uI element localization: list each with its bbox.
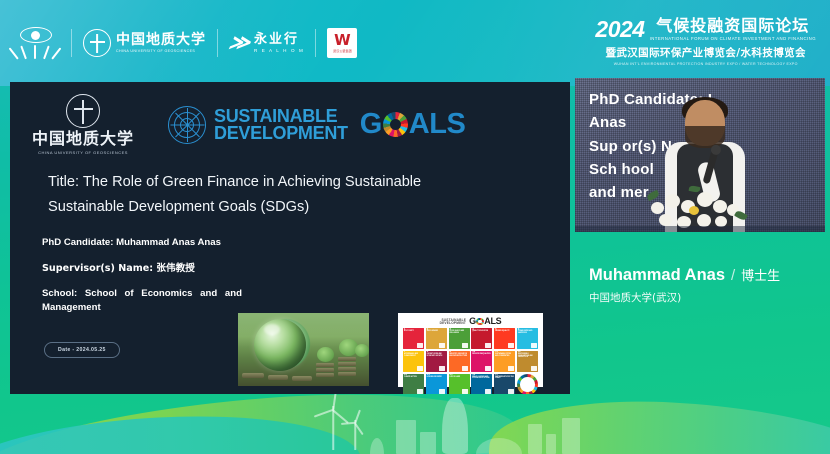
city-skyline-decoration — [300, 386, 600, 454]
sdg-goal-label: REDUCED INEQUALITIES — [472, 354, 491, 356]
sdg-logo: SUSTAINABLE DEVELOPMENT G ALS — [168, 106, 465, 144]
sdg-goal-pictogram-icon — [485, 366, 491, 371]
conference-subtitle-en: WUHAN INT'L ENVIRONMENTAL PROTECTION IND… — [595, 62, 816, 66]
sdg-goal-tile-12: 12RESPONSIBLE CONSUMPTION AND PRODUCTION — [517, 351, 538, 372]
building-icon — [396, 420, 416, 454]
cug-logo-cn: 中国地质大学 — [116, 33, 206, 47]
sdg-goal-label: NO POVERTY — [404, 331, 423, 333]
partner-w-logo: W 武汉公装集团 — [327, 28, 357, 58]
sdg-goal-tile-11: 11SUSTAINABLE CITIES AND COMMUNITIES — [494, 351, 515, 372]
sdg-color-wheel-icon — [476, 318, 484, 326]
sdg-goal-pictogram-icon — [417, 389, 423, 394]
green-finance-image — [238, 313, 369, 386]
sdg-goal-pictogram-icon — [439, 366, 445, 371]
speaker-name-row: Muhammad Anas / 博士生 — [589, 266, 811, 285]
ministry-emblem-logo — [12, 26, 60, 60]
wind-turbine-icon — [344, 420, 366, 450]
speaker-name: Muhammad Anas — [589, 266, 725, 284]
conference-title-block: 2024 气候投融资国际论坛 INTERNATIONAL FORUM ON CL… — [595, 18, 816, 66]
sdg-goal-tile-2: 2ZERO HUNGER — [426, 328, 447, 349]
partner-w-mark: W — [334, 33, 351, 48]
sdg-goal-tile-15: 15LIFE ON LAND — [449, 374, 470, 394]
slide-logo-row: 中国地质大学 CHINA UNIVERSITY OF GEOSCIENCES — [32, 94, 465, 155]
sdg-goal-label: AFFORDABLE AND CLEAN ENERGY — [404, 354, 423, 357]
slide-cug-logo: 中国地质大学 CHINA UNIVERSITY OF GEOSCIENCES — [32, 94, 134, 155]
sdg-goal-pictogram-icon — [531, 366, 537, 371]
sdg-goal-tile-14: 14LIFE BELOW WATER — [426, 374, 447, 394]
logo-divider — [71, 29, 72, 57]
header-logo-strip: 中国地质大学 CHINA UNIVERSITY OF GEOSCIENCES ≫… — [12, 22, 357, 64]
poster-head-line-2: DEVELOPMENT — [440, 322, 466, 325]
sdg-goals-post: ALS — [409, 111, 466, 137]
sdg-goal-pictogram-icon — [508, 366, 514, 371]
sdg-goal-label: RESPONSIBLE CONSUMPTION AND PRODUCTION — [518, 354, 537, 359]
sdg-goal-label: PARTNERSHIPS FOR THE GOALS — [495, 377, 514, 380]
speaker-organization: 中国地质大学(武汉) — [589, 290, 811, 305]
sdg-goal-pictogram-icon — [462, 366, 468, 371]
conference-title-en: INTERNATIONAL FORUM ON CLIMATE INVESTMEN… — [650, 36, 816, 41]
sdg-goal-tile-16: 16PEACE, JUSTICE AND STRONG INSTITUTIONS — [471, 374, 492, 394]
sdg-goal-label: INDUSTRY, INNOVATION AND INFRASTRUCTURE — [450, 354, 469, 357]
cug-seal-icon — [66, 94, 100, 128]
slide-meta-block: PhD Candidate: Muhammad Anas Anas Superv… — [42, 236, 242, 314]
tree-icon — [317, 347, 334, 362]
sdg-goals-pre: G — [360, 111, 382, 137]
speaker-video-panel[interactable]: PhD Candidate: I Anas Sup or(s) Na Sch h… — [575, 78, 825, 232]
conference-subtitle-cn: 暨武汉国际环保产业博览会/水科技博览会 — [595, 45, 816, 60]
conference-year: 2024 — [595, 19, 644, 41]
sdg-goal-pictogram-icon — [462, 343, 468, 348]
sdg-goal-tile-17: 17PARTNERSHIPS FOR THE GOALS — [494, 374, 515, 394]
sdg-goal-label: QUALITY EDUCATION — [472, 331, 491, 333]
sdg-goal-pictogram-icon — [485, 389, 491, 394]
sdg-goal-label: ZERO HUNGER — [427, 331, 446, 333]
sdg-goal-tile-7: 7AFFORDABLE AND CLEAN ENERGY — [403, 351, 424, 372]
sdg-goal-tile-1: 1NO POVERTY — [403, 328, 424, 349]
sdg-color-wheel-icon — [517, 374, 538, 394]
pagoda-icon — [370, 438, 384, 454]
sdg-goal-tile-3: 3GOOD HEALTH AND WELL-BEING — [449, 328, 470, 349]
realhom-mark-icon: ≫ — [227, 33, 250, 53]
logo-divider — [315, 29, 316, 57]
sdg-goal-grid: 1NO POVERTY2ZERO HUNGER3GOOD HEALTH AND … — [403, 328, 538, 394]
cug-university-logo: 中国地质大学 CHINA UNIVERSITY OF GEOSCIENCES — [83, 29, 206, 57]
slide-title: Title: The Role of Green Finance in Achi… — [48, 170, 538, 220]
sdg-poster-image: SUSTAINABLE DEVELOPMENT G ALS 1NO POVERT… — [398, 313, 543, 387]
cug-seal-icon — [83, 29, 111, 57]
sdg-goal-label: LIFE BELOW WATER — [427, 377, 446, 379]
sdg-goal-tile-9: 9INDUSTRY, INNOVATION AND INFRASTRUCTURE — [449, 351, 470, 372]
sdg-goal-label: GENDER EQUALITY — [495, 331, 514, 333]
sdg-goal-tile-8: 8DECENT WORK AND ECONOMIC GROWTH — [426, 351, 447, 372]
sdg-goal-pictogram-icon — [508, 389, 514, 394]
sdg-goal-label: SUSTAINABLE CITIES AND COMMUNITIES — [495, 354, 514, 357]
sdg-goal-label: CLIMATE ACTION — [404, 377, 423, 379]
sdg-goal-label: DECENT WORK AND ECONOMIC GROWTH — [427, 354, 446, 357]
ministry-emblem-icon — [12, 26, 60, 60]
conference-title-cn: 气候投融资国际论坛 — [650, 18, 816, 34]
meta-phd-candidate: PhD Candidate: Muhammad Anas Anas — [42, 236, 242, 250]
realhom-logo-en: R E A L H O M — [254, 49, 305, 54]
tree-icon — [355, 344, 369, 357]
slide-title-line-1: Title: The Role of Green Finance in Achi… — [48, 170, 538, 195]
sdg-goal-pictogram-icon — [462, 389, 468, 394]
building-icon — [420, 432, 436, 454]
sdg-goal-pictogram-icon — [439, 389, 445, 394]
partner-w-badge-icon: W 武汉公装集团 — [327, 28, 357, 58]
sdg-goal-pictogram-icon — [439, 343, 445, 348]
logo-divider — [217, 29, 218, 57]
sdg-goal-pictogram-icon — [531, 343, 537, 348]
sdg-goal-pictogram-icon — [417, 343, 423, 348]
sdg-goal-label: LIFE ON LAND — [450, 377, 469, 379]
sdg-goal-label: GOOD HEALTH AND WELL-BEING — [450, 331, 469, 334]
slide-cug-cn: 中国地质大学 — [32, 131, 134, 147]
podium-base — [575, 226, 825, 232]
slide-date-badge: Date - 2024.05.25 — [44, 342, 120, 358]
sdg-goals-wordmark: G ALS — [360, 111, 466, 137]
slide-title-line-2: Sustainable Development Goals (SDGs) — [48, 195, 538, 220]
sdg-goal-pictogram-icon — [508, 343, 514, 348]
caption-separator: / — [731, 268, 735, 285]
building-icon — [546, 434, 556, 454]
speaker-role: 博士生 — [741, 270, 780, 284]
sdg-poster-header: SUSTAINABLE DEVELOPMENT G ALS — [403, 317, 538, 326]
sdg-goal-tile-4: 4QUALITY EDUCATION — [471, 328, 492, 349]
sdg-goal-label: CLEAN WATER AND SANITATION — [518, 331, 537, 334]
slide-cug-en: CHINA UNIVERSITY OF GEOSCIENCES — [38, 150, 128, 155]
sdg-goal-label: PEACE, JUSTICE AND STRONG INSTITUTIONS — [472, 377, 491, 380]
sdg-goal-tile-6: 6CLEAN WATER AND SANITATION — [517, 328, 538, 349]
sdg-color-wheel-icon — [383, 112, 408, 137]
poster-goals-post: ALS — [484, 317, 501, 326]
partner-w-sub: 武汉公装集团 — [333, 49, 352, 53]
sdg-line-1: SUSTAINABLE — [214, 108, 348, 125]
stadium-icon — [476, 438, 522, 454]
realhom-logo-cn: 永业行 — [254, 33, 305, 46]
sdg-goal-pictogram-icon — [417, 366, 423, 371]
un-emblem-icon — [168, 106, 206, 144]
tv-tower-icon — [442, 398, 468, 454]
sdg-goal-tile-10: 10REDUCED INEQUALITIES — [471, 351, 492, 372]
sdg-goal-tile-13: 13CLIMATE ACTION — [403, 374, 424, 394]
poster-goals-pre: G — [469, 317, 476, 326]
sdg-goal-tile-5: 5GENDER EQUALITY — [494, 328, 515, 349]
meta-supervisor: Supervisor(s) Name: 张伟教授 — [42, 262, 242, 276]
speaker-caption: Muhammad Anas / 博士生 中国地质大学(武汉) — [575, 258, 825, 315]
meta-school: School: School of Economics and and Mana… — [42, 287, 242, 314]
sdg-line-2: DEVELOPMENT — [214, 125, 348, 142]
globe-icon — [254, 319, 306, 371]
screenshot-root: 中国地质大学 CHINA UNIVERSITY OF GEOSCIENCES ≫… — [0, 0, 830, 454]
building-icon — [528, 424, 542, 454]
realhom-logo: ≫ 永业行 R E A L H O M — [229, 33, 304, 54]
presentation-slide-panel: 中国地质大学 CHINA UNIVERSITY OF GEOSCIENCES — [10, 82, 570, 394]
cug-logo-en: CHINA UNIVERSITY OF GEOSCIENCES — [116, 50, 206, 54]
sdg-goal-pictogram-icon — [485, 343, 491, 348]
building-icon — [562, 418, 580, 454]
